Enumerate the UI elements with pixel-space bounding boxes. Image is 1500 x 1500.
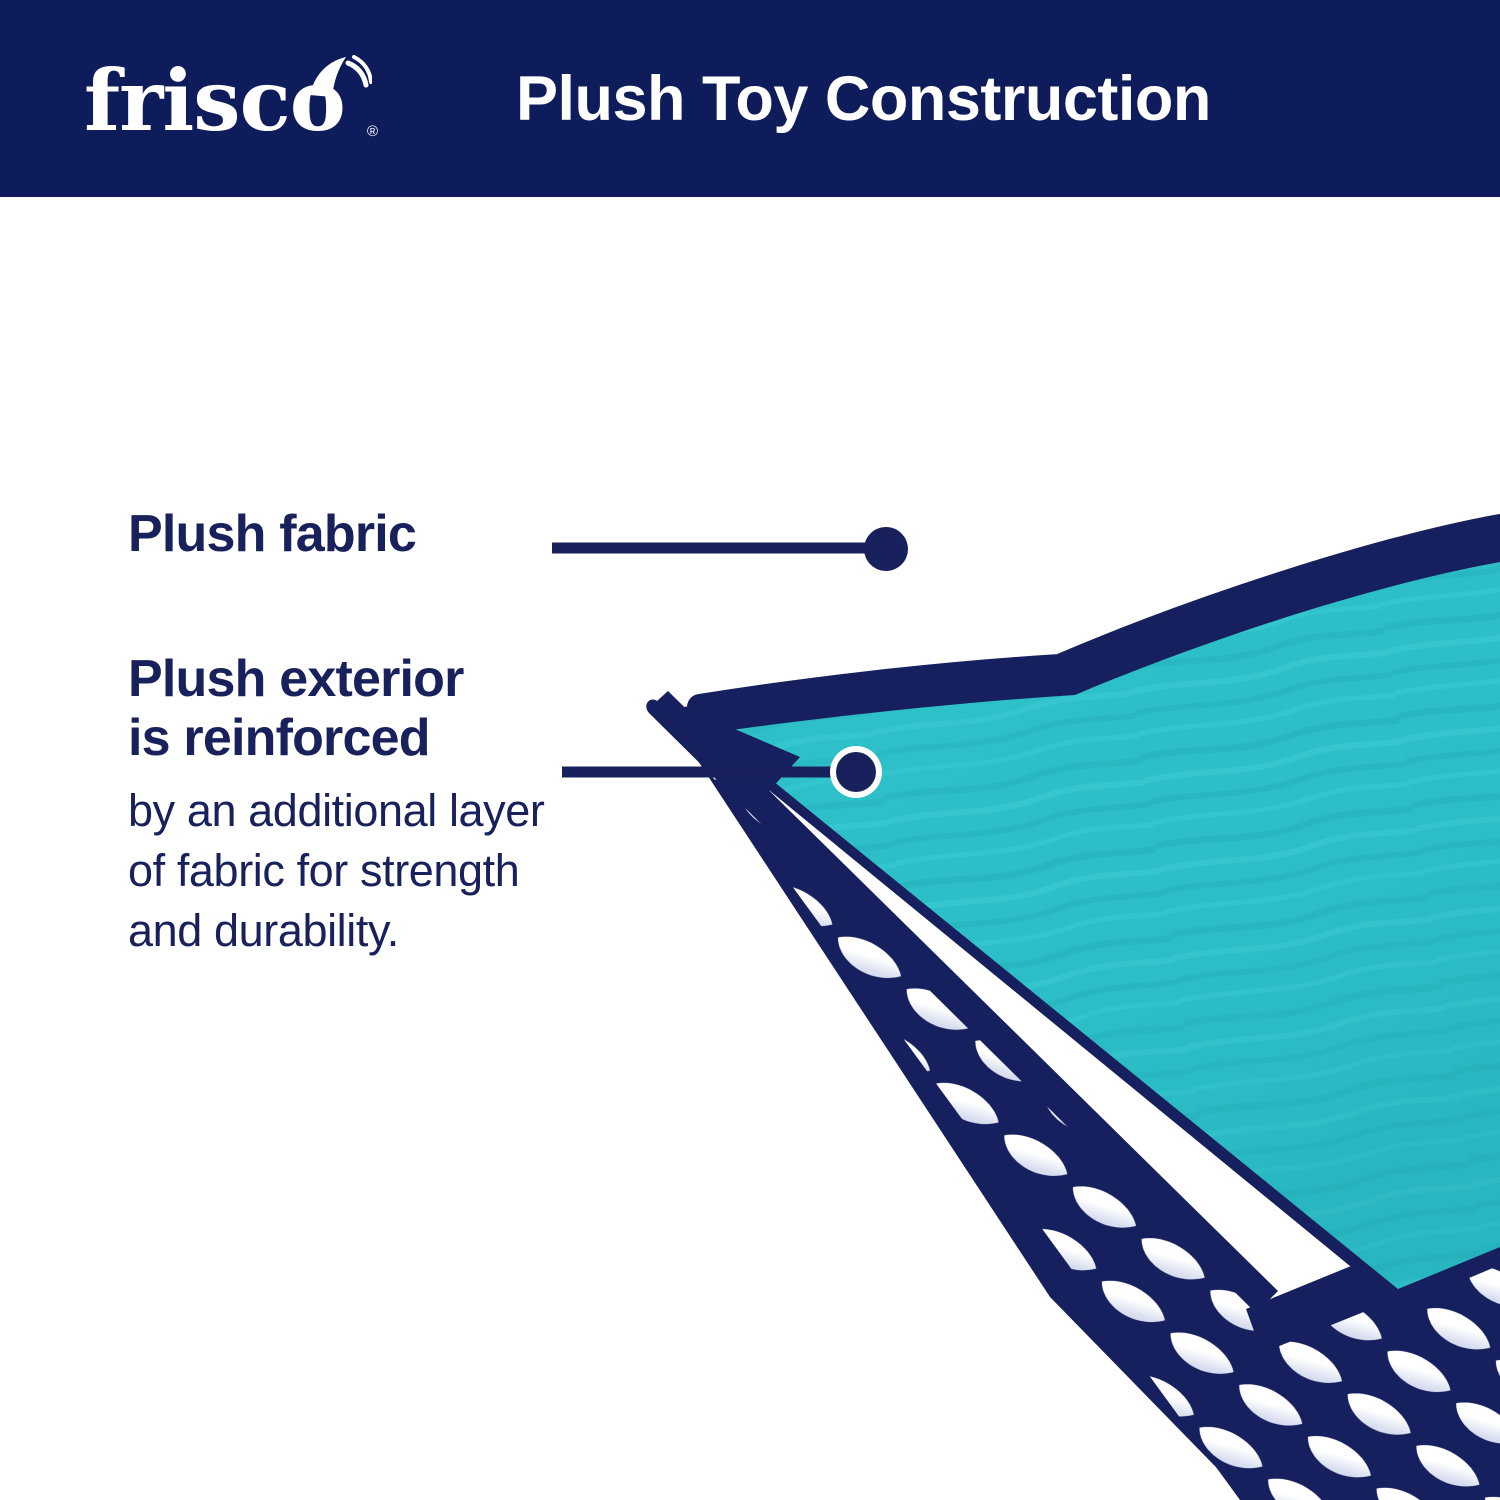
plush-toy-construction-infographic: frisco ® Plush Toy Construction: [0, 0, 1500, 1500]
registered-trademark-icon: ®: [367, 124, 378, 139]
page-title: Plush Toy Construction: [516, 63, 1211, 135]
callout-plush-exterior: Plush exterior is reinforced by an addit…: [128, 650, 718, 961]
callout-plush-exterior-heading: Plush exterior is reinforced: [128, 650, 718, 769]
frisco-logo[interactable]: frisco ®: [84, 49, 384, 149]
callout-plush-exterior-body: by an additional layer of fabric for str…: [128, 781, 718, 962]
callout-plush-fabric: Plush fabric: [128, 505, 558, 564]
header-bar: frisco ® Plush Toy Construction: [0, 0, 1500, 197]
frisco-wordmark: frisco: [84, 59, 345, 143]
callout-plush-fabric-heading: Plush fabric: [128, 505, 558, 564]
